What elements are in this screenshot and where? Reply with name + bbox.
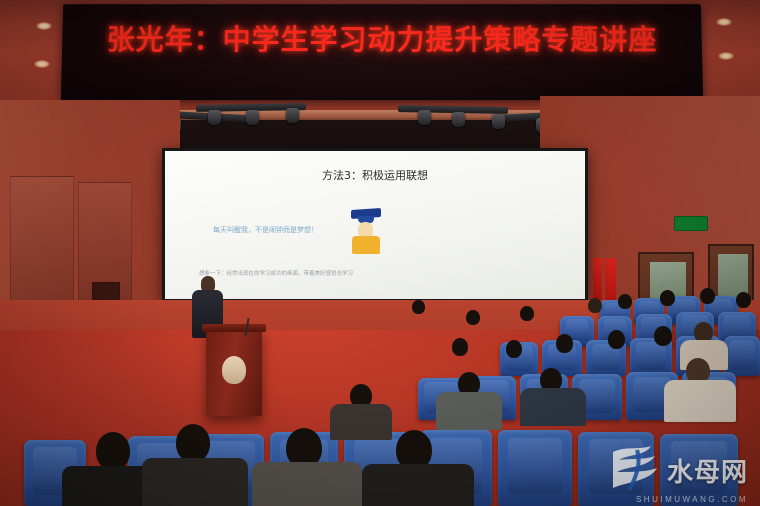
audience-head xyxy=(660,290,675,306)
projection-screen: 方法3：积极运用联想 每天叫醒我，不是闹钟而是梦想！ 想象一下：经常出现在你学习… xyxy=(162,148,588,302)
audience-shoulders xyxy=(362,464,474,506)
ceiling-light-icon xyxy=(34,60,50,68)
photograph: 张光年：中学生学习动力提升策略专题讲座 方法3：积极运用联想 每天叫醒我，不是闹… xyxy=(0,0,760,506)
audience-head xyxy=(412,300,425,314)
seat xyxy=(498,430,572,506)
spotlight-icon xyxy=(286,108,299,123)
audience-shoulders xyxy=(436,392,502,430)
spotlight-icon xyxy=(452,112,465,127)
graduation-cap-icon xyxy=(347,209,389,255)
watermark: 水母网 xyxy=(607,444,748,496)
audience-head xyxy=(466,310,480,325)
audience-head xyxy=(176,424,210,462)
watermark-latin: SHUIMUWANG.COM xyxy=(636,495,748,504)
spotlight-icon xyxy=(418,110,431,125)
seat xyxy=(724,336,760,376)
spotlight-icon xyxy=(208,110,221,125)
audience-head xyxy=(520,306,534,321)
spotlight-icon xyxy=(492,114,505,129)
wave-logo-icon xyxy=(607,444,661,496)
audience-head xyxy=(588,298,602,313)
audience-head xyxy=(608,330,625,349)
spotlight-icon xyxy=(246,110,259,125)
audience-head xyxy=(96,432,130,470)
audience-head xyxy=(556,334,573,353)
ceiling-light-icon xyxy=(716,18,732,26)
audience-head xyxy=(700,288,715,304)
podium xyxy=(206,330,262,416)
slide-subtitle: 每天叫醒我，不是闹钟而是梦想！ xyxy=(213,225,318,235)
ceiling-light-icon xyxy=(718,52,734,60)
audience-head xyxy=(506,340,522,358)
audience-head xyxy=(654,326,672,346)
wall-panel xyxy=(10,176,74,318)
audience-shoulders xyxy=(664,380,736,422)
school-crest-emblem xyxy=(222,356,246,384)
podium-top xyxy=(202,324,266,332)
audience-shoulders xyxy=(252,462,362,506)
audience-shoulders xyxy=(520,388,586,426)
slide-title: 方法3：积极运用联想 xyxy=(165,167,585,183)
ceiling-light-icon xyxy=(36,22,52,30)
banner-title: 张光年：中学生学习动力提升策略专题讲座 xyxy=(62,18,702,58)
audience-shoulders xyxy=(330,404,392,440)
exit-sign-icon xyxy=(674,216,708,231)
audience-shoulders xyxy=(142,458,248,506)
audience-head xyxy=(452,338,468,356)
audience-head xyxy=(736,292,751,308)
audience-head xyxy=(618,294,632,309)
slide-footnote: 想象一下：经常出现在你学习成功的画面，带着美好感觉去学习 xyxy=(199,269,353,277)
watermark-brand: 水母网 xyxy=(667,452,748,489)
stage-led-banner: 张光年：中学生学习动力提升策略专题讲座 xyxy=(61,4,703,100)
